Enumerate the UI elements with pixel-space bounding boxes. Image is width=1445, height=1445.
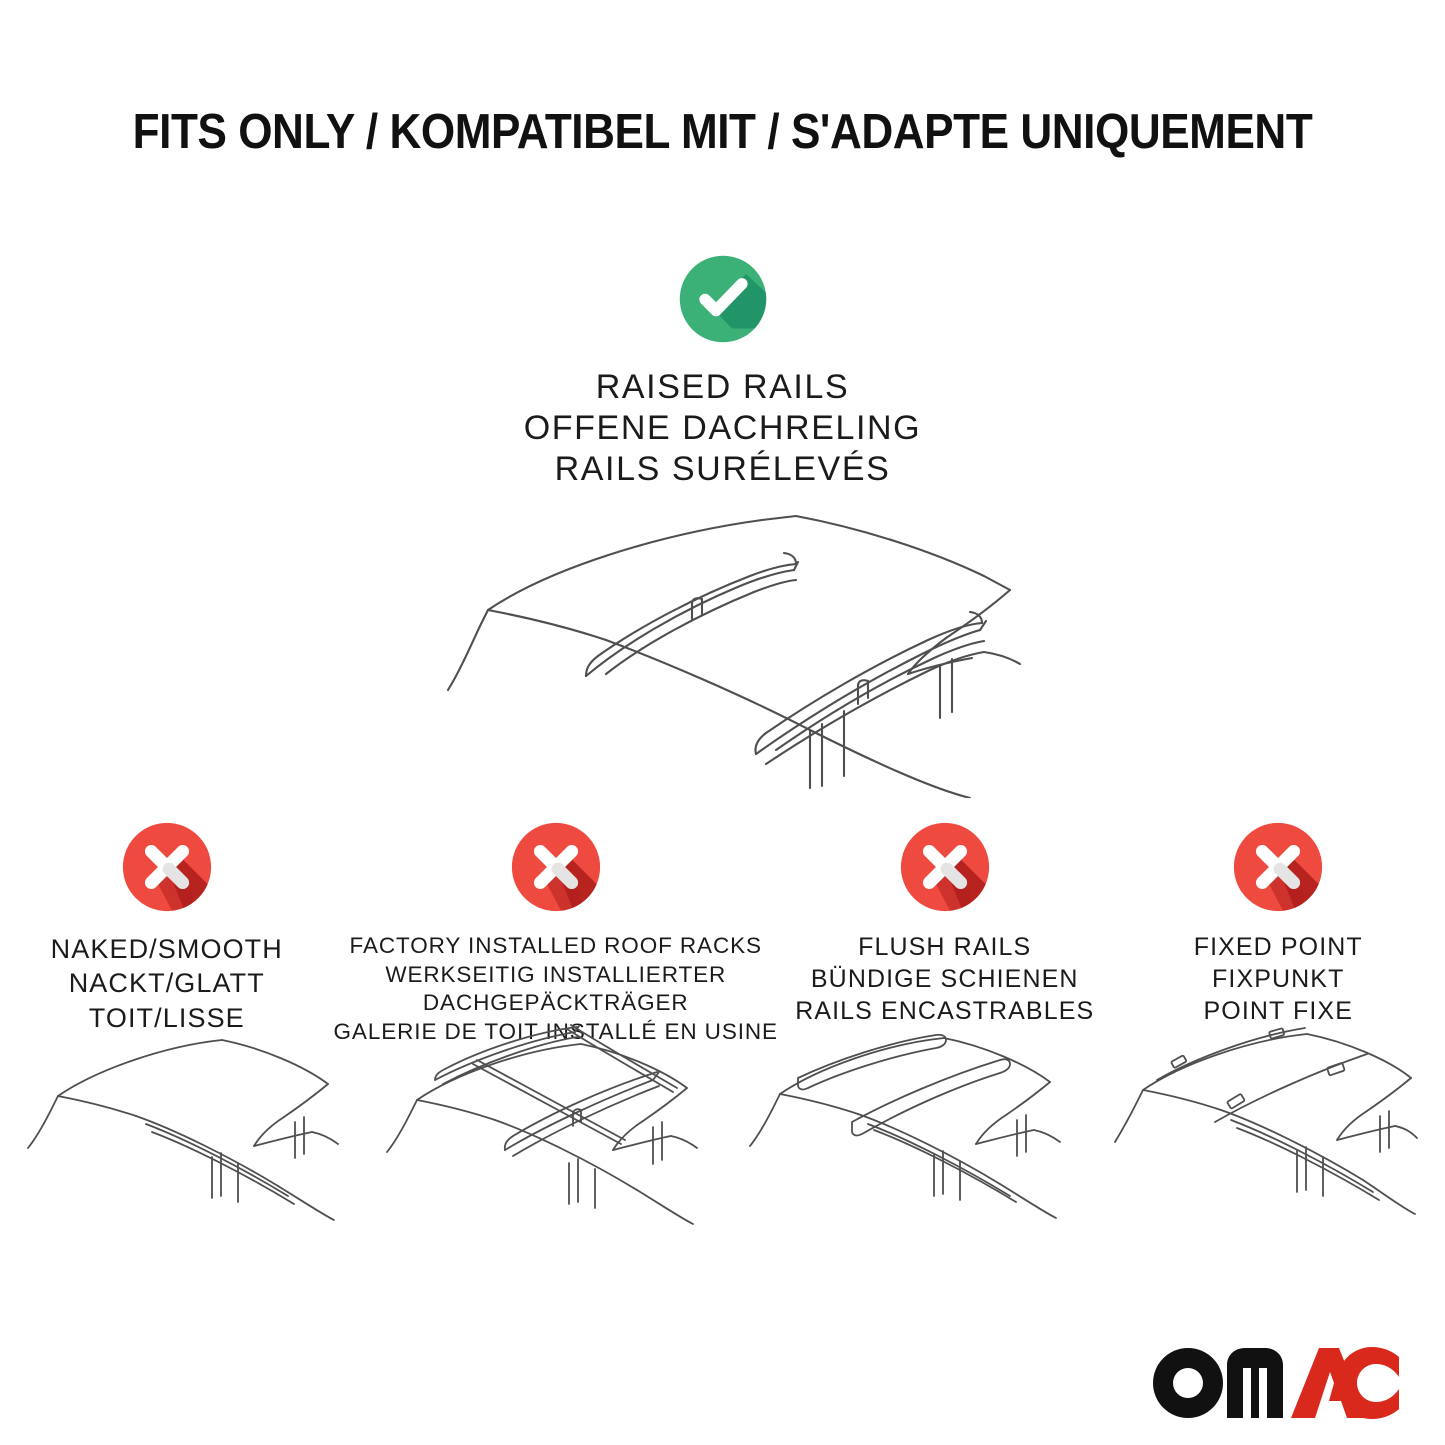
car-roof-naked-smooth-illustration [0, 1018, 361, 1248]
compatible-block: RAISED RAILS OFFENE DACHRELING RAILS SUR… [0, 253, 1445, 490]
incompatible-label-de-1: WERKSEITIG INSTALLIERTER [334, 961, 778, 990]
compatible-label-fr: RAILS SURÉLEVÉS [0, 449, 1445, 490]
incompatible-item-flush-rails: FLUSH RAILS BÜNDIGE SCHIENEN RAILS ENCAS… [778, 818, 1112, 1027]
car-roof-fixed-point-illustration [1084, 1018, 1445, 1248]
incompatible-labels: FLUSH RAILS BÜNDIGE SCHIENEN RAILS ENCAS… [795, 932, 1094, 1027]
x-circle-icon [507, 818, 605, 916]
incompatible-label-de: NACKT/GLATT [51, 966, 283, 1000]
incompatible-label-de: BÜNDIGE SCHIENEN [795, 964, 1094, 996]
omac-logo [1143, 1331, 1403, 1423]
compatible-label-de: OFFENE DACHRELING [0, 408, 1445, 449]
incompatible-item-factory-racks: FACTORY INSTALLED ROOF RACKS WERKSEITIG … [334, 818, 778, 1046]
incompatible-label-en: NAKED/SMOOTH [51, 932, 283, 966]
incompatible-label-en: FACTORY INSTALLED ROOF RACKS [334, 932, 778, 961]
page-title: FITS ONLY / KOMPATIBEL MIT / S'ADAPTE UN… [72, 104, 1373, 160]
incompatible-label-en: FLUSH RAILS [795, 932, 1094, 964]
incompatible-labels: FIXED POINT FIXPUNKT POINT FIXE [1194, 932, 1363, 1027]
fitment-infographic: FITS ONLY / KOMPATIBEL MIT / S'ADAPTE UN… [0, 0, 1445, 1445]
car-roof-flush-rails-illustration [723, 1018, 1084, 1248]
x-circle-icon [1229, 818, 1327, 916]
logo-letter-m [1227, 1348, 1283, 1418]
incompatible-illustrations-row [0, 1018, 1445, 1248]
incompatible-row: NAKED/SMOOTH NACKT/GLATT TOIT/LISSE [0, 818, 1445, 1046]
check-circle-icon [677, 253, 769, 345]
incompatible-item-naked-smooth: NAKED/SMOOTH NACKT/GLATT TOIT/LISSE [0, 818, 334, 1035]
car-roof-raised-rails-illustration [410, 498, 1030, 798]
compatible-label-en: RAISED RAILS [0, 367, 1445, 408]
incompatible-label-de-2: DACHGEPÄCKTRÄGER [334, 989, 778, 1018]
incompatible-item-fixed-point: FIXED POINT FIXPUNKT POINT FIXE [1111, 818, 1445, 1027]
incompatible-label-en: FIXED POINT [1194, 932, 1363, 964]
car-roof-factory-racks-illustration [361, 1018, 722, 1248]
x-circle-icon [896, 818, 994, 916]
logo-letter-o [1153, 1348, 1223, 1418]
x-circle-icon [118, 818, 216, 916]
compatible-labels: RAISED RAILS OFFENE DACHRELING RAILS SUR… [0, 367, 1445, 490]
incompatible-label-de: FIXPUNKT [1194, 964, 1363, 996]
